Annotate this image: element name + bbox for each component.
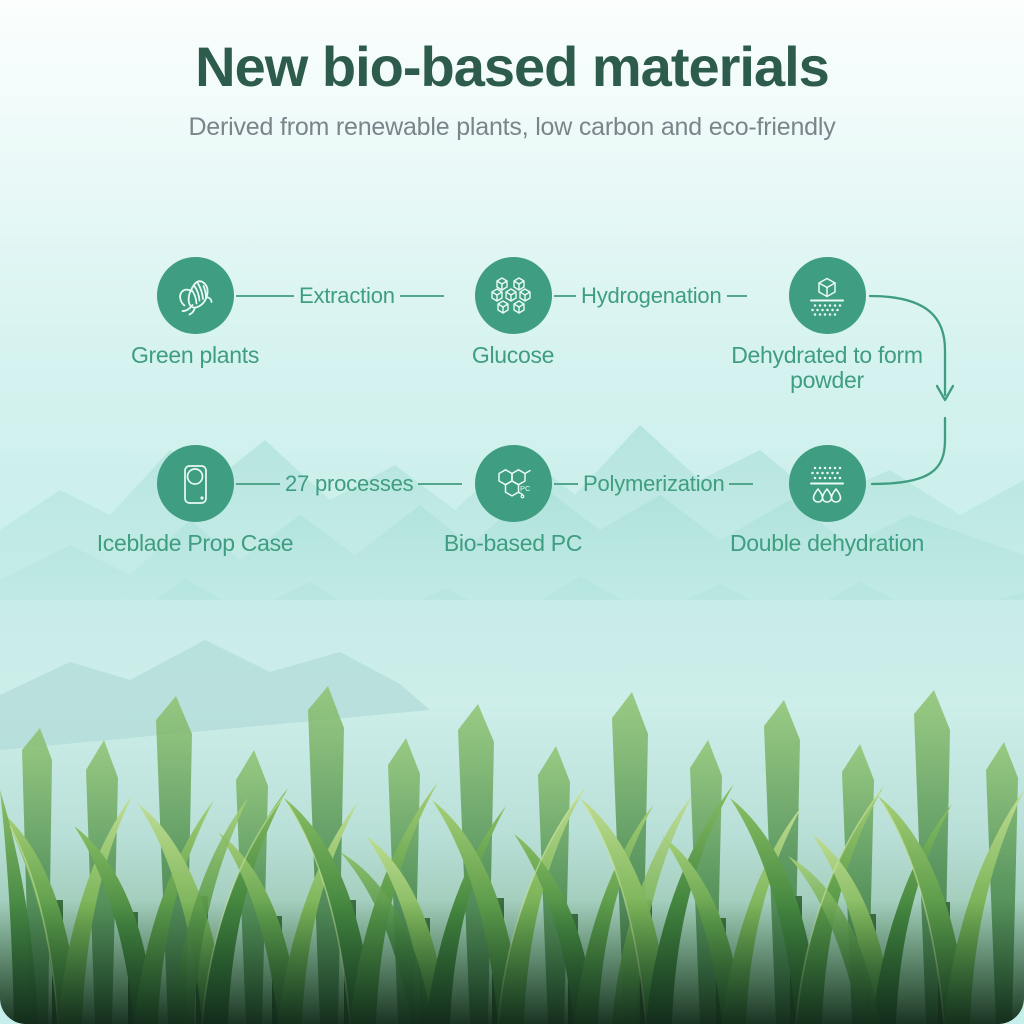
iceblade-prop-case-bubble[interactable] [157,445,234,522]
connector-line-left [236,483,280,485]
infographic-poster: New bio-based materials Derived from ren… [0,0,1024,1024]
green-plants-bubble[interactable] [157,257,234,334]
connector-line-left [236,295,294,297]
connector-label: 27 processes [280,471,418,497]
flow-node-green-plants[interactable]: Green plants [95,257,295,368]
cube-to-powder-icon [803,272,851,320]
flow-node-dehydrated-powder[interactable]: Dehydrated to form powder [727,257,927,393]
connector-line-right [727,295,747,297]
connector-hydrogenation: Hydrogenation [554,283,790,309]
dehydrated-powder-bubble[interactable] [789,257,866,334]
connector-label: Hydrogenation [576,283,727,309]
flow-node-label: Green plants [95,343,295,368]
flow-node-label: Bio-based PC [413,531,613,556]
connector-line-right [400,295,444,297]
bio-based-pc-bubble[interactable]: PC [475,445,552,522]
corn-icon [170,271,220,321]
glucose-bubble[interactable] [475,257,552,334]
flow-node-iceblade-prop-case[interactable]: Iceblade Prop Case [95,445,295,556]
connector-polymerization: Polymerization [554,471,790,497]
powder-to-droplets-icon [803,460,851,508]
flow-node-label: Iceblade Prop Case [95,531,295,556]
flow-node-label: Glucose [413,343,613,368]
connector-label: Extraction [294,283,400,309]
molecule-pc-icon: PC [489,460,537,508]
process-flow-diagram: Green plants [0,0,1024,600]
connector-line-left [554,295,576,297]
connector-line-right [418,483,462,485]
sugar-cubes-icon [490,273,536,319]
connector-line-right [729,483,753,485]
double-dehydration-bubble[interactable] [789,445,866,522]
flow-node-double-dehydration[interactable]: Double dehydration [727,445,927,556]
flow-node-glucose[interactable]: Glucose [413,257,613,368]
connector-label: Polymerization [578,471,729,497]
connector-line-left [554,483,578,485]
phone-case-icon [172,461,218,507]
flow-node-label: Dehydrated to form powder [727,343,927,393]
flow-node-label: Double dehydration [727,531,927,556]
connector-27-processes: 27 processes [236,471,472,497]
sugarcane-field-photo [0,600,1024,1024]
connector-extraction: Extraction [236,283,472,309]
flow-node-bio-based-pc[interactable]: PC Bio-based PC [413,445,613,556]
molecule-pc-text: PC [520,484,531,493]
